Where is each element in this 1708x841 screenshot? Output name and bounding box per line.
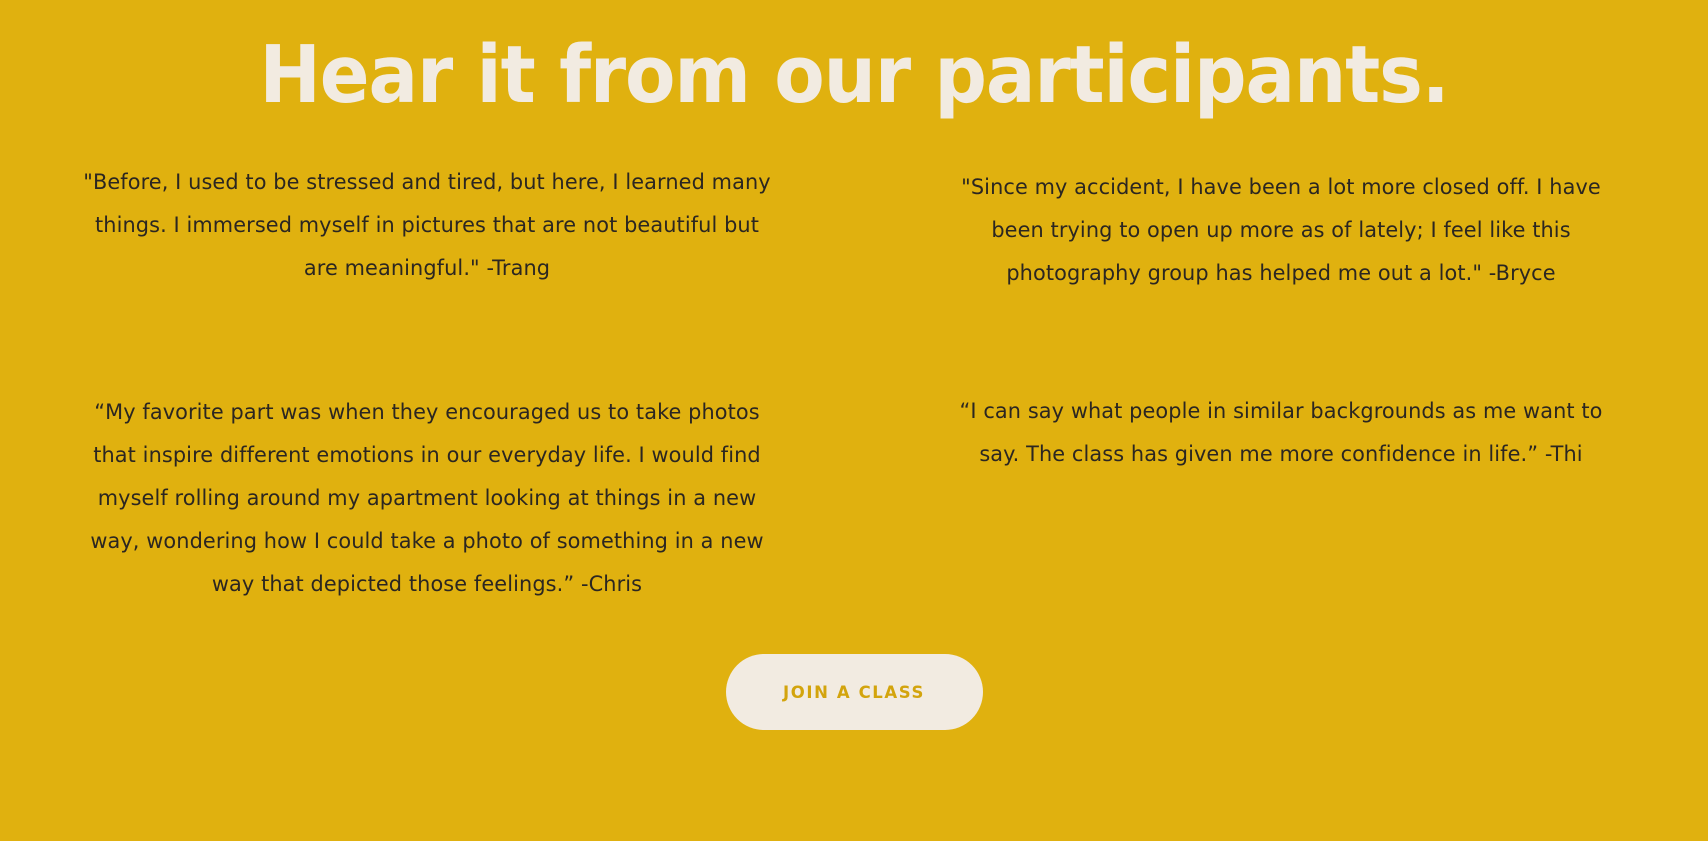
testimonial-quote-chris: “My favorite part was when they encourag… (83, 391, 772, 606)
testimonial-quote-bryce: "Since my accident, I have been a lot mo… (937, 166, 1626, 295)
join-a-class-button[interactable]: JOIN A CLASS (726, 654, 983, 730)
testimonials-grid: "Before, I used to be stressed and tired… (0, 161, 1708, 606)
testimonial-column-left: "Before, I used to be stressed and tired… (0, 161, 854, 606)
testimonials-section: Hear it from our participants. "Before, … (0, 0, 1708, 841)
cta-container: JOIN A CLASS (0, 654, 1708, 730)
testimonial-quote-trang: "Before, I used to be stressed and tired… (83, 161, 772, 290)
testimonial-column-right: "Since my accident, I have been a lot mo… (854, 161, 1708, 476)
page-title: Hear it from our participants. (60, 0, 1648, 115)
testimonial-quote-thi: “I can say what people in similar backgr… (937, 390, 1626, 476)
